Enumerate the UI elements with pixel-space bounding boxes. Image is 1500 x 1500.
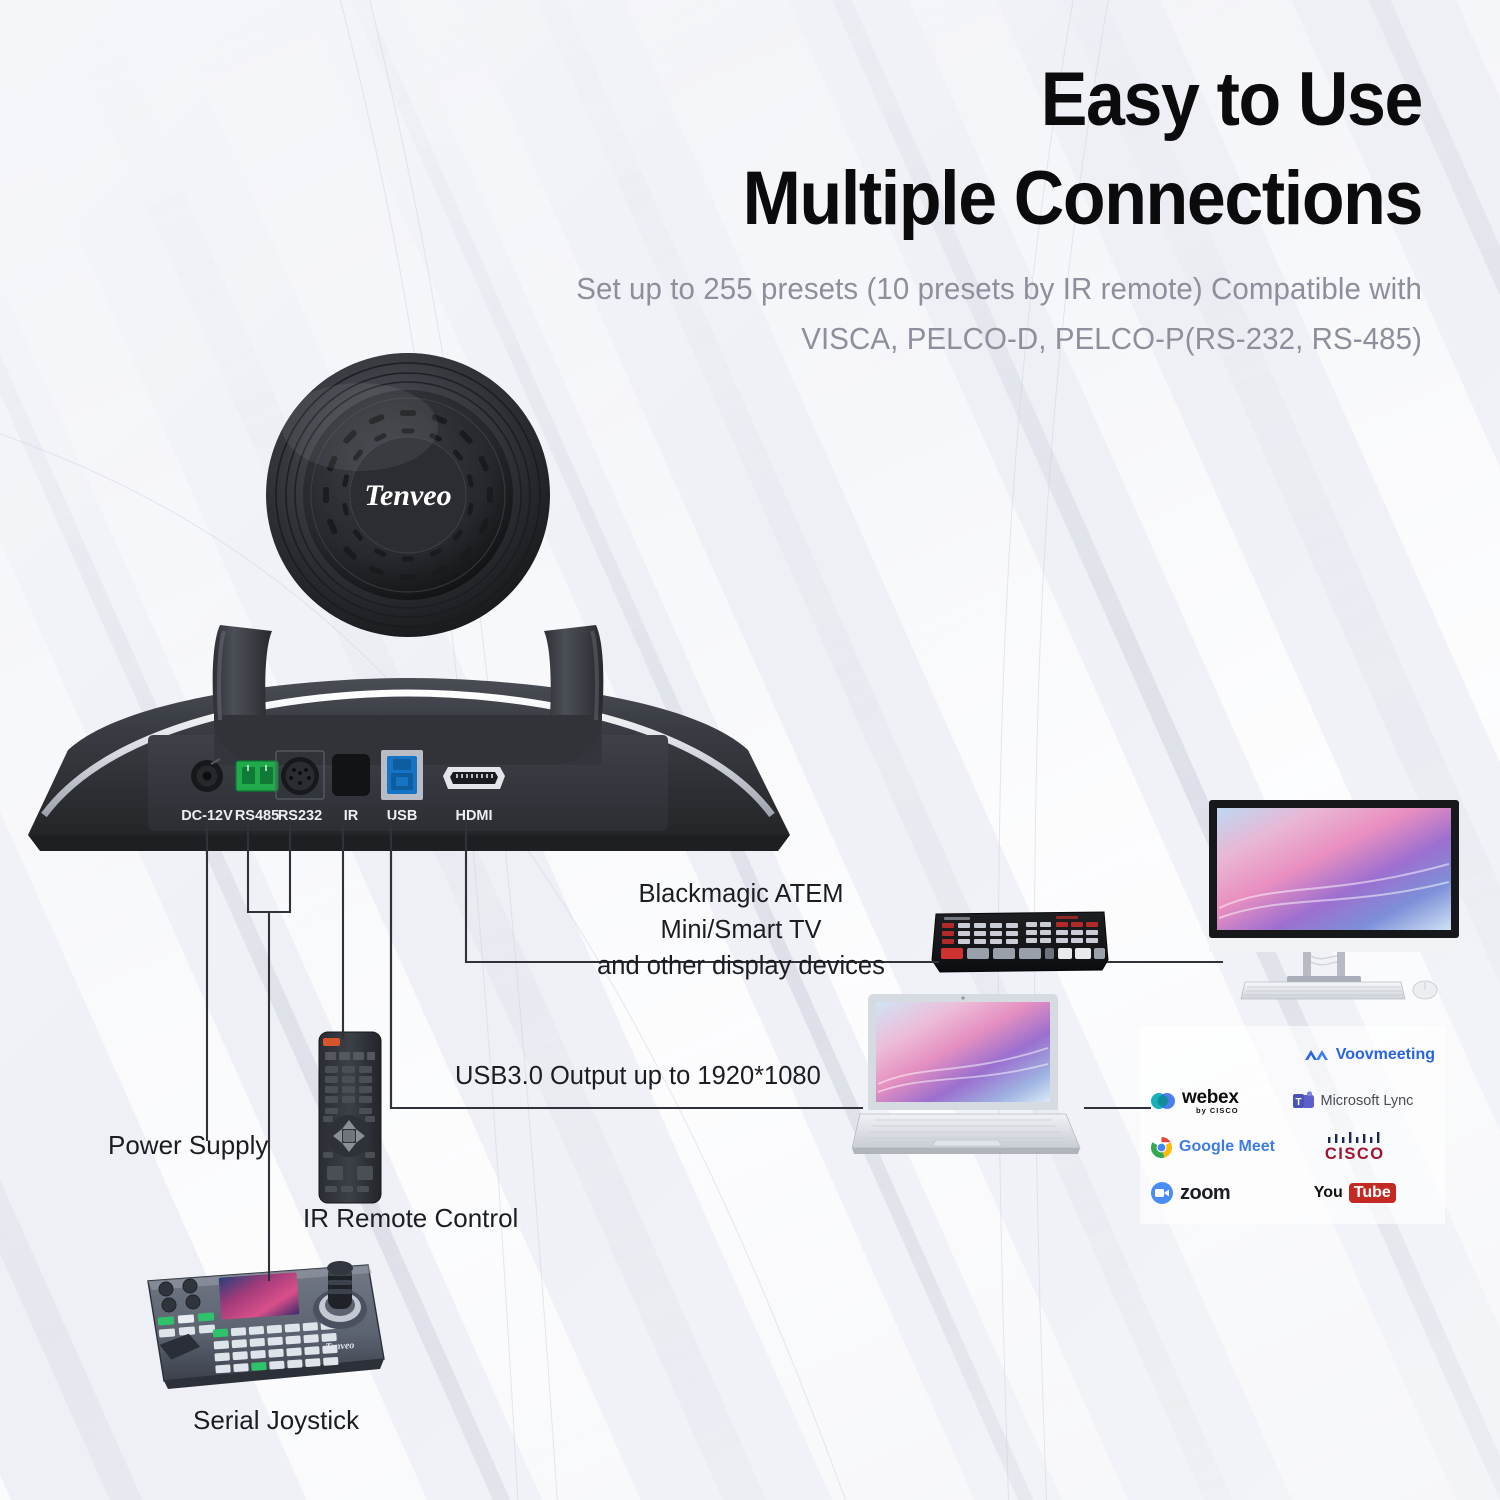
logo-zoom: zoom [1150, 1181, 1293, 1205]
atem-mini-switcher [930, 908, 1110, 978]
logo-label-zoom: zoom [1180, 1182, 1230, 1205]
camera-lens-assembly: Tenveo [266, 353, 550, 637]
chrome-icon [1150, 1136, 1173, 1159]
atem-program-button [941, 948, 963, 959]
port-label-ir: IR [344, 808, 359, 824]
logo-sublabel-webex: by CISCO [1196, 1107, 1239, 1115]
port-label-rs232: RS232 [278, 808, 322, 824]
logo-webex: webex by CISCO [1150, 1088, 1293, 1115]
port-hdmi [443, 767, 505, 789]
port-label-usb: USB [387, 808, 418, 824]
port-ir [332, 754, 370, 796]
serial-joystick-device: Tenveo [128, 1255, 390, 1392]
cisco-bars-icon [1326, 1131, 1384, 1144]
port-usb [381, 750, 423, 800]
logo-label-cisco: CISCO [1325, 1145, 1385, 1164]
keyboard [1241, 982, 1405, 999]
joystick-brand-logo: Tenveo [325, 1340, 355, 1353]
headline-block: Easy to Use Multiple Connections Set up … [422, 62, 1422, 364]
laptop-trackpad [932, 1140, 1002, 1146]
voovmeeting-icon [1304, 1046, 1330, 1064]
port-label-hdmi: HDMI [455, 808, 492, 824]
laptop-device [852, 988, 1087, 1160]
laptop-webcam [961, 996, 964, 999]
callout-hdmi-line-1: Blackmagic ATEM Mini/Smart TV [576, 876, 906, 948]
logo-label-youtube-you: You [1314, 1184, 1343, 1202]
label-serial-joystick: Serial Joystick [193, 1402, 359, 1439]
remote-dpad [328, 1115, 370, 1157]
subtitle-line-2: VISCA, PELCO-D, PELCO-P(RS-232, RS-485) [472, 314, 1422, 364]
callout-hdmi-line-2: and other display devices [576, 948, 906, 984]
webex-icon [1150, 1090, 1176, 1112]
monitor-screen [1217, 808, 1451, 930]
port-label-rs485: RS485 [235, 808, 279, 824]
label-power-supply: Power Supply [108, 1127, 268, 1164]
logo-voovmeeting: Voovmeeting [1293, 1046, 1436, 1064]
camera-brand-logo: Tenveo [364, 479, 451, 512]
monitor-chin [1209, 938, 1459, 952]
callout-usb: USB3.0 Output up to 1920*1080 [455, 1058, 821, 1094]
logo-cisco: CISCO [1293, 1131, 1436, 1164]
headline-line-2: Multiple Connections [502, 160, 1422, 238]
label-ir-remote-control: IR Remote Control [303, 1200, 518, 1237]
svg-text:T: T [1295, 1097, 1301, 1108]
ptz-camera: Tenveo [8, 295, 808, 855]
logo-microsoft-lync: T Microsoft Lync [1293, 1091, 1436, 1111]
callout-hdmi: Blackmagic ATEM Mini/Smart TV and other … [576, 876, 906, 985]
zoom-camera-icon [1150, 1181, 1174, 1205]
subtitle-block: Set up to 255 presets (10 presets by IR … [472, 264, 1422, 364]
desktop-monitor-setup [1205, 790, 1467, 1008]
logo-label-google-meet: Google Meet [1179, 1138, 1275, 1156]
logo-label-youtube-tube: Tube [1349, 1183, 1396, 1203]
logo-youtube: You Tube [1293, 1183, 1436, 1203]
port-label-dc-12v: DC-12V [181, 808, 233, 824]
camera-base-lip [28, 835, 790, 851]
port-rs485 [236, 761, 278, 791]
logo-label-microsoft-lync: Microsoft Lync [1321, 1093, 1414, 1109]
microsoft-teams-icon: T [1293, 1091, 1315, 1111]
remote-power-button [323, 1038, 340, 1046]
software-compatibility-panel: Voovmeeting webex by CISCO T Microsoft L… [1140, 1026, 1445, 1224]
logo-google-meet: Google Meet [1150, 1136, 1293, 1159]
logo-label-webex: webex [1182, 1088, 1239, 1107]
ir-remote-control-device [313, 1030, 387, 1205]
logo-label-voovmeeting: Voovmeeting [1336, 1046, 1435, 1064]
headline-line-1: Easy to Use [502, 62, 1422, 138]
laptop-screen [876, 1002, 1050, 1102]
subtitle-line-1: Set up to 255 presets (10 presets by IR … [472, 264, 1422, 314]
joystick-screen [219, 1272, 300, 1319]
